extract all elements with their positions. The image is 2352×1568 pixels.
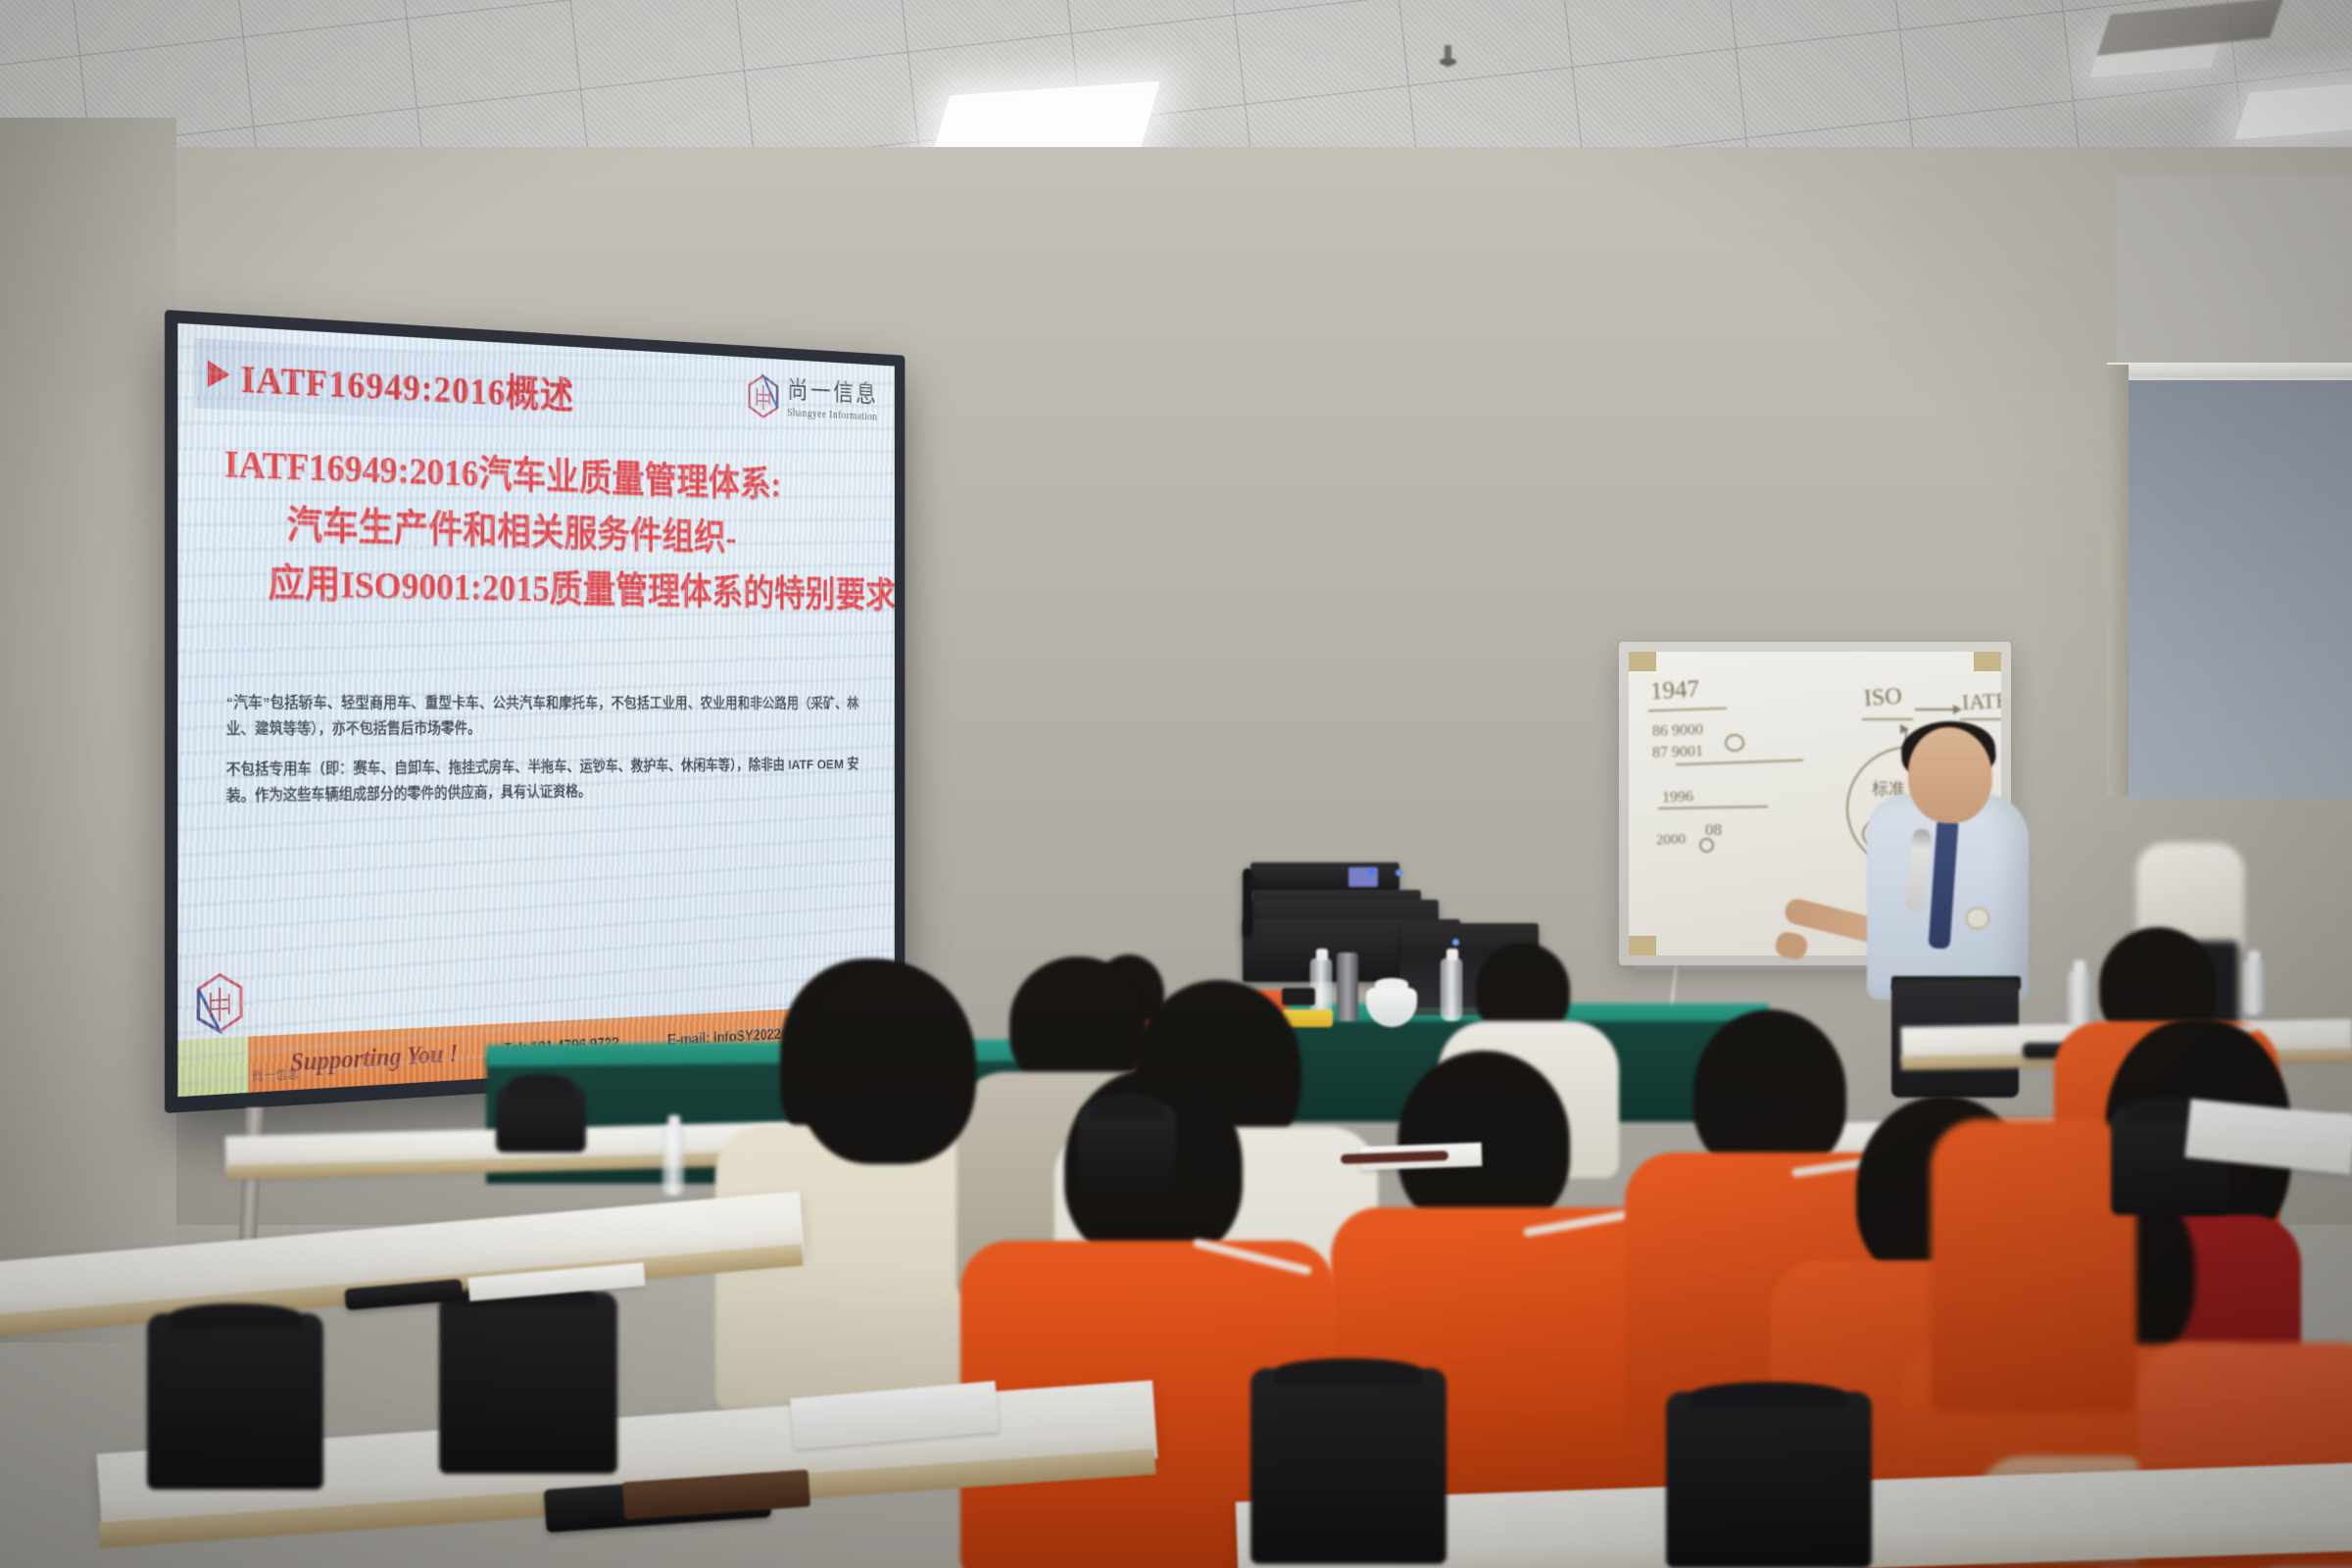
footer-chip xyxy=(177,1037,248,1098)
av-rack-cable xyxy=(1243,868,1252,937)
av-rack-led-blue-2 xyxy=(1396,869,1402,876)
chair-2[interactable] xyxy=(439,1292,617,1474)
chair-5[interactable] xyxy=(1078,1103,1176,1194)
presentation-display[interactable]: IATF16949:2016概述 尚一信息 Shangyee Informati… xyxy=(165,310,905,1113)
brand-name-en: Shangyee Information xyxy=(787,407,878,422)
window-frame xyxy=(2107,365,2129,796)
footer-chip-text: 尚一信息 xyxy=(252,1065,299,1084)
footer-slogan: Supporting You ! xyxy=(290,1039,458,1077)
slide-headline: IATF16949:2016汽车业质量管理体系: 汽车生产件和相关服务件组织- … xyxy=(177,433,894,622)
av-rack-led-indicator xyxy=(1452,939,1459,946)
whiteboard-note-2000: 2000 xyxy=(1656,831,1687,849)
brand-logo: 尚一信息 Shangyee Information xyxy=(747,373,878,424)
whiteboard-note-86-9000: 86 9000 xyxy=(1652,721,1704,741)
left-wall xyxy=(0,118,176,1343)
presenter-head xyxy=(1908,727,1992,823)
whiteboard-circle-2 xyxy=(1699,838,1714,853)
person-torso xyxy=(1931,1119,2136,1413)
window-blind xyxy=(2125,377,2352,799)
classroom-photo-scene: IATF16949:2016概述 尚一信息 Shangyee Informati… xyxy=(0,0,2352,1568)
thermos-flask xyxy=(1337,953,1358,1021)
av-rack-led-blue xyxy=(1368,868,1375,875)
small-black-object xyxy=(1282,988,1315,1005)
slide-title-band: IATF16949:2016概述 xyxy=(195,338,804,437)
whiteboard-note-iso: ISO xyxy=(1863,684,1902,713)
chair-7[interactable] xyxy=(496,1084,586,1152)
whiteboard-note-87-9001: 87 9001 xyxy=(1652,743,1704,762)
hexagon-logo-icon-footer xyxy=(195,971,245,1036)
chair-4[interactable] xyxy=(1666,1392,1872,1568)
body-paragraph-1: “汽车”包括轿车、轻型商用车、重型卡车、公共汽车和摩托车，不包括工业用、农业用和… xyxy=(226,691,858,743)
whiteboard-corner-tr xyxy=(1974,652,2001,671)
whiteboard-corner-tl xyxy=(1629,652,1656,671)
whiteboard-underline-1 xyxy=(1648,708,1727,712)
person-hair xyxy=(1693,1009,1846,1174)
whiteboard-circle-mark xyxy=(1725,734,1744,752)
slide-title: IATF16949:2016概述 xyxy=(241,347,574,419)
sprinkler-icon xyxy=(1445,45,1451,67)
slide-body: “汽车”包括轿车、轻型商用车、重型卡车、公共汽车和摩托车，不包括工业用、农业用和… xyxy=(226,691,858,825)
brand-name-cn: 尚一信息 xyxy=(787,378,878,407)
person-hair xyxy=(798,962,976,1164)
water-bottle-right-2 xyxy=(2242,960,2264,1015)
whiteboard-note-iatf: IATF xyxy=(1961,688,2001,715)
whiteboard-arrow-icon xyxy=(1915,709,1960,710)
presenter-wristwatch xyxy=(1965,906,1990,930)
body-paragraph-2: 不包括专用车（即：赛车、自卸车、拖挂式房车、半拖车、运钞车、救护车、休闲车等），… xyxy=(226,754,858,810)
water-bottle-right xyxy=(2068,970,2089,1027)
person-hair xyxy=(1009,956,1147,1090)
whiteboard-note-1996: 1996 xyxy=(1662,788,1694,807)
whiteboard-note-08: 08 xyxy=(1705,820,1722,840)
chair-1[interactable] xyxy=(147,1313,323,1490)
triangle-bullet-icon xyxy=(208,360,230,388)
water-bottle-mid xyxy=(662,1125,684,1196)
whiteboard-underline-5 xyxy=(1862,718,1913,720)
whiteboard-corner-bl xyxy=(1629,936,1656,955)
slide: IATF16949:2016概述 尚一信息 Shangyee Informati… xyxy=(177,323,894,1097)
whiteboard-underline-4 xyxy=(1960,718,2001,720)
brand-text: 尚一信息 Shangyee Information xyxy=(787,378,878,421)
whiteboard-note-1947: 1947 xyxy=(1649,676,1699,707)
chair-3[interactable] xyxy=(1250,1368,1446,1564)
hexagon-logo-icon xyxy=(747,373,779,419)
person-hair xyxy=(1397,1051,1570,1231)
water-bottle-front-2 xyxy=(1441,958,1462,1021)
